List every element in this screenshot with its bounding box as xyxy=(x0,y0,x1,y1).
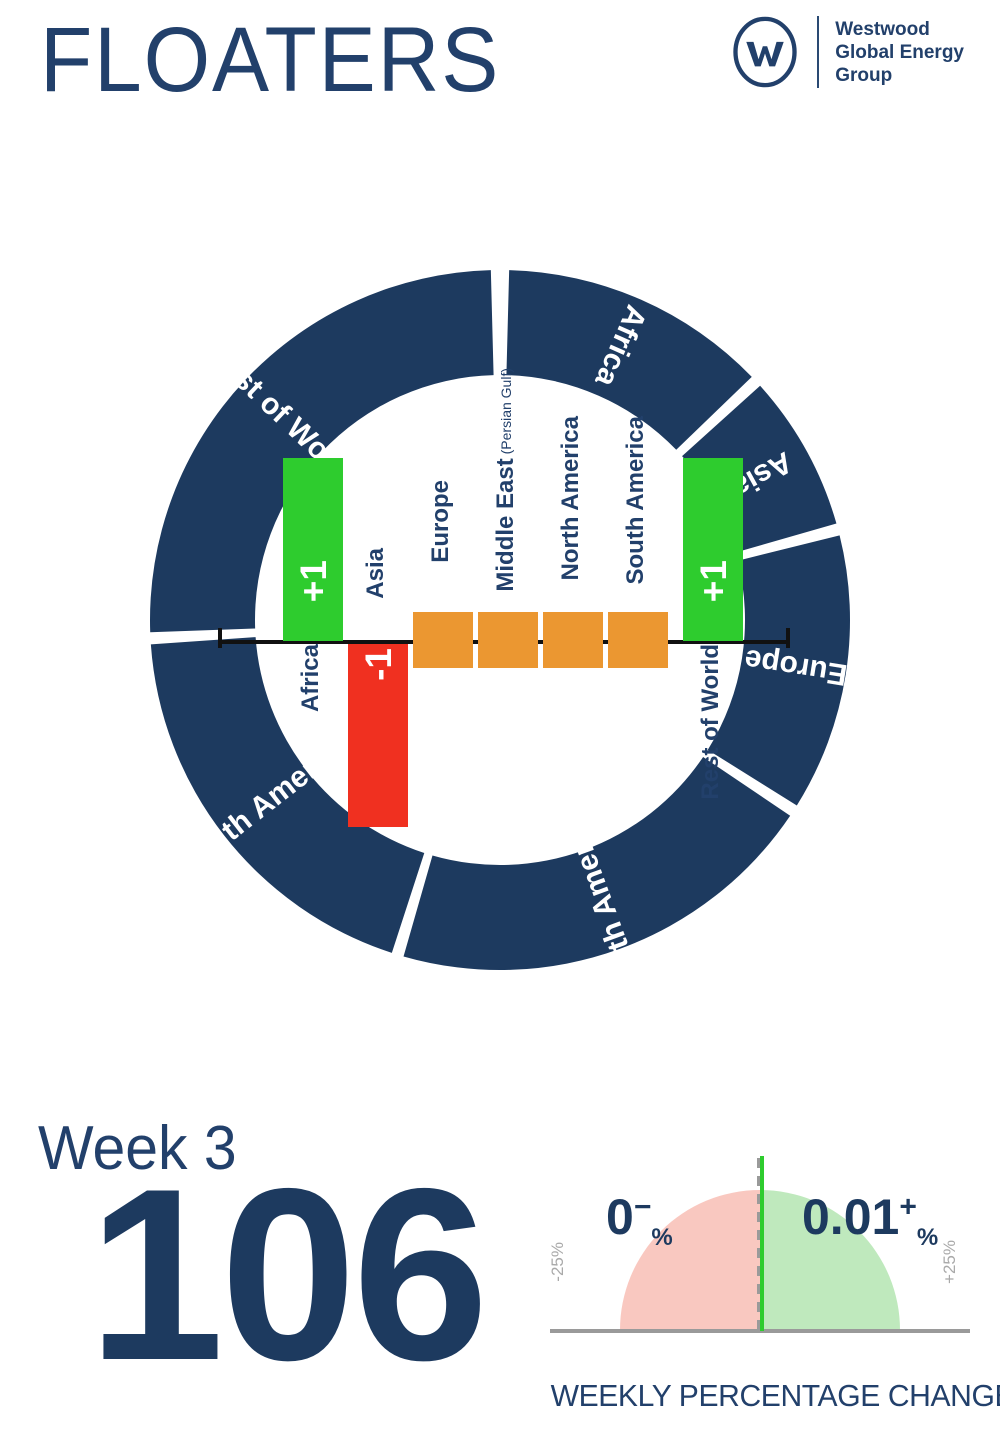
brand-logo: Westwood Global Energy Group xyxy=(729,16,964,88)
gauge-negative-value: 0−% xyxy=(606,1192,673,1250)
bar-label-africa: Africa xyxy=(299,644,323,712)
logo-text: Westwood Global Energy Group xyxy=(835,16,964,88)
gauge-tick-max: +25% xyxy=(940,1240,960,1284)
logo-line-3: Group xyxy=(835,64,964,87)
gauge-negative-number: 0 xyxy=(606,1189,634,1245)
regional-change-bar-chart: +1Africa-1AsiaEuropeMiddle East (Persian… xyxy=(200,420,800,840)
regions-donut-section: AfricaAsiaEuropeNorth AmericaSouth Ameri… xyxy=(0,140,1000,1100)
baseline-cap-left xyxy=(218,628,222,648)
gauge-graphic xyxy=(540,1130,980,1370)
bar-label-south-america: South America xyxy=(624,416,648,584)
bar-label-sub: (Persian Gulf) xyxy=(498,368,514,458)
bar-middle-east[interactable] xyxy=(478,612,538,668)
summary-footer: Week 3 106 0−% 0.01+% -25% +25% WEEKLY P… xyxy=(0,1100,1000,1430)
gauge-positive-value: 0.01+% xyxy=(802,1192,938,1250)
gauge-tick-min: -25% xyxy=(548,1242,568,1282)
gauge-positive-number: 0.01 xyxy=(802,1189,899,1245)
bar-value-asia: -1 xyxy=(360,648,397,681)
gauge-positive-sign: + xyxy=(899,1190,917,1223)
bar-africa[interactable] xyxy=(283,458,343,641)
bar-rest-of-world[interactable] xyxy=(683,458,743,641)
westwood-w-circle-icon xyxy=(729,16,801,88)
bar-label-north-america: North America xyxy=(559,416,583,580)
bar-label-asia: Asia xyxy=(364,548,388,599)
gauge-caption: WEEKLY PERCENTAGE CHANGE xyxy=(551,1378,978,1414)
bar-europe[interactable] xyxy=(413,612,473,668)
page-title: FLOATERS xyxy=(40,14,500,106)
logo-line-2: Global Energy xyxy=(835,41,964,64)
bar-label-middle-east: Middle East (Persian Gulf) xyxy=(494,368,518,592)
baseline-cap-right xyxy=(786,628,790,648)
logo-line-1: Westwood xyxy=(835,18,964,41)
bar-value-rest-of-world: +1 xyxy=(695,560,732,602)
bar-label-rest-of-world: Rest of World xyxy=(699,644,723,800)
total-floaters-value: 106 xyxy=(88,1152,485,1397)
bar-label-europe: Europe xyxy=(429,480,453,563)
logo-divider xyxy=(817,16,819,88)
bar-south-america[interactable] xyxy=(608,612,668,668)
page-header: FLOATERS Westwood Global Energy Group xyxy=(0,0,1000,140)
bar-value-africa: +1 xyxy=(295,560,332,602)
gauge-negative-sign: − xyxy=(634,1190,652,1223)
weekly-percentage-change-gauge: 0−% 0.01+% -25% +25% WEEKLY PERCENTAGE C… xyxy=(540,1130,980,1420)
gauge-positive-unit: % xyxy=(917,1224,938,1251)
gauge-negative-unit: % xyxy=(651,1224,672,1251)
bar-north-america[interactable] xyxy=(543,612,603,668)
